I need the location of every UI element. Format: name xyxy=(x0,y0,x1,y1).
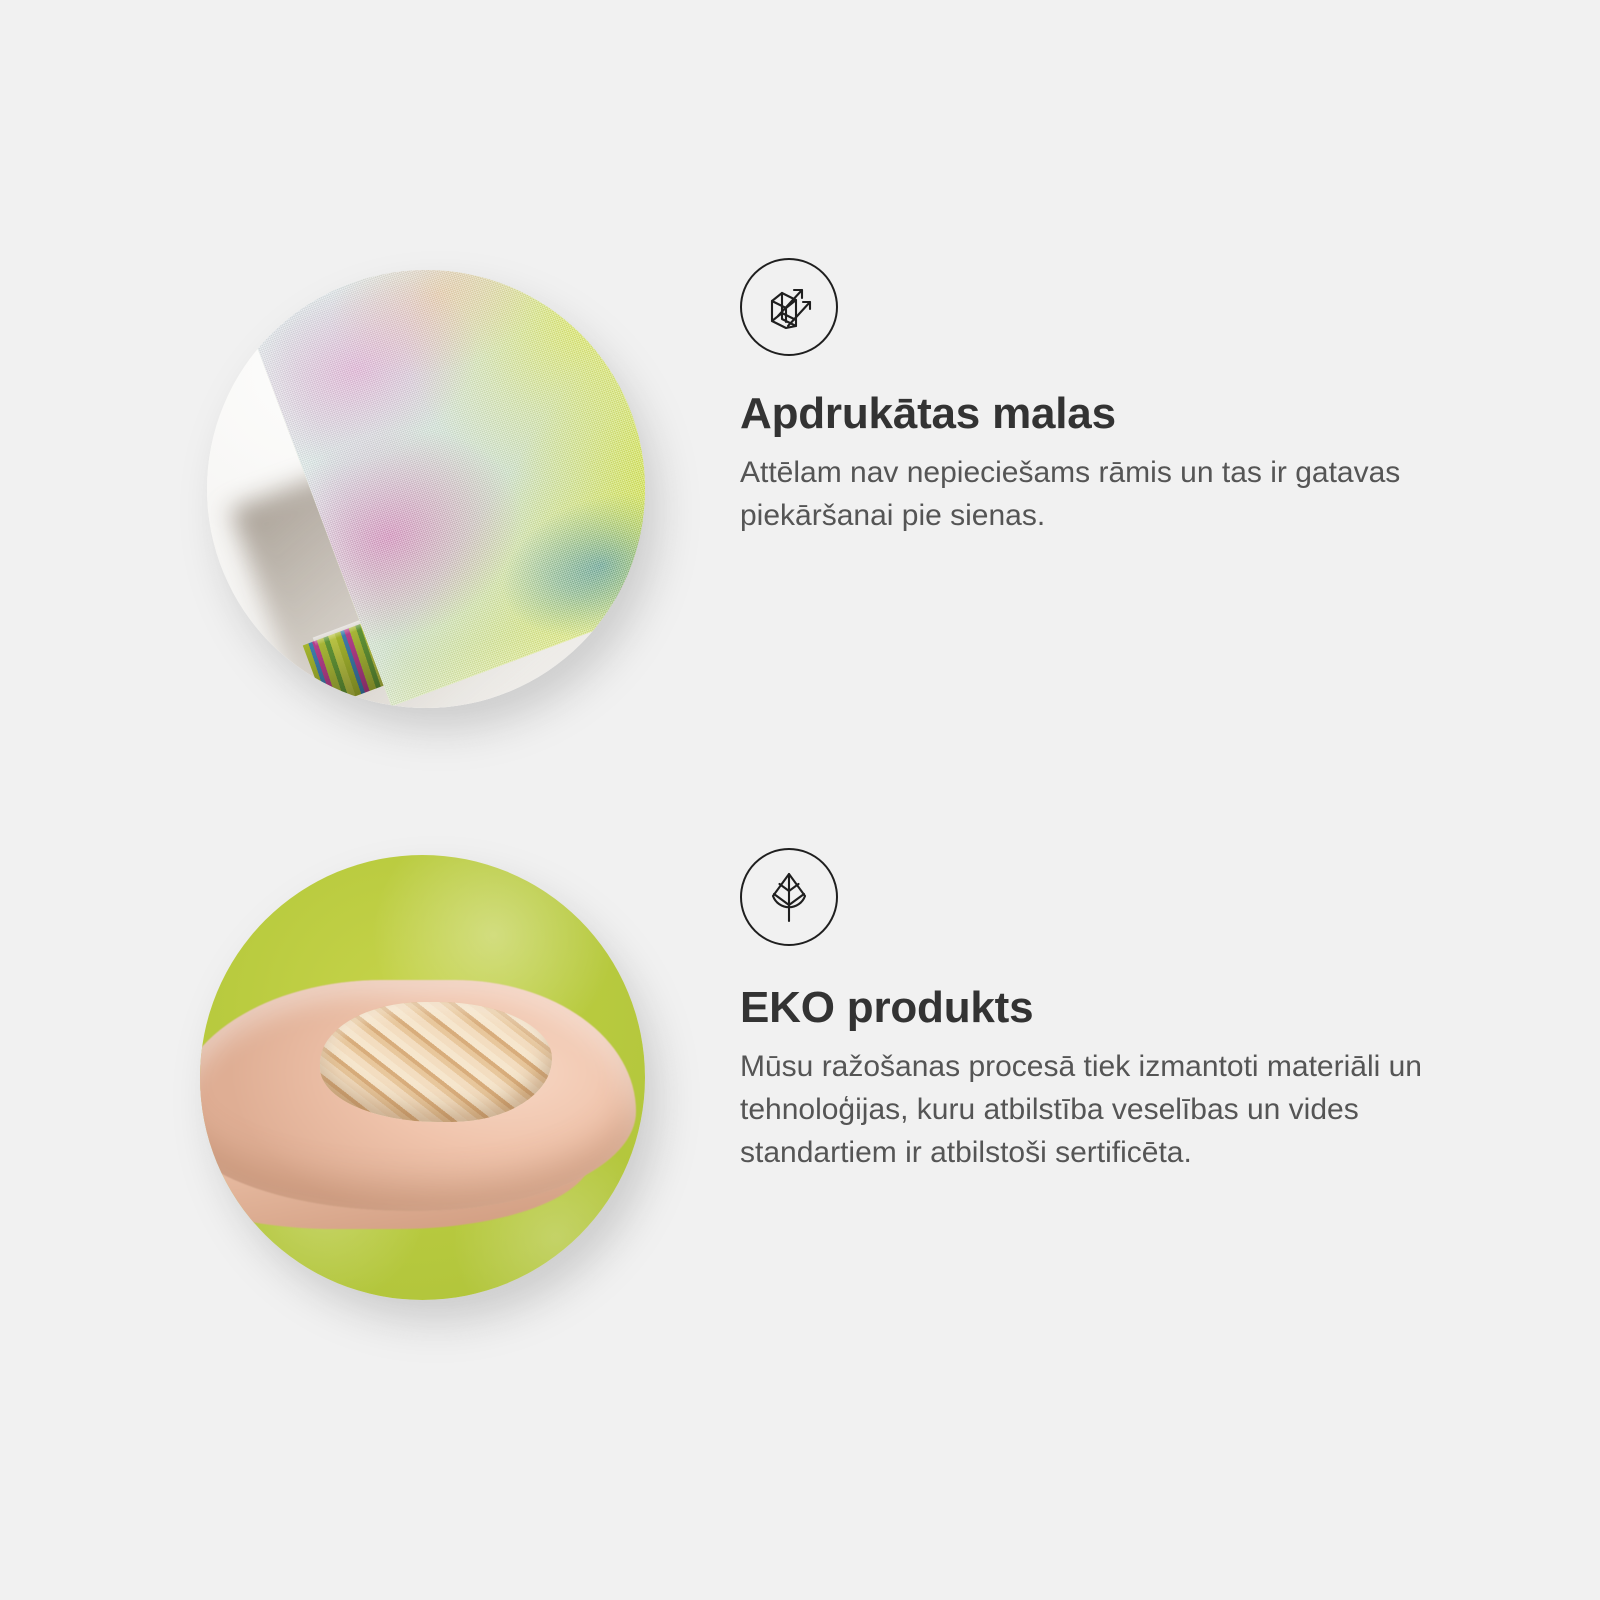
wood-chips-in-hands-photo xyxy=(200,855,645,1300)
feature-title: EKO produkts xyxy=(740,984,1600,1032)
feature-description: Attēlam nav nepieciešams rāmis un tas ir… xyxy=(740,452,1470,537)
feature-title: Apdrukātas malas xyxy=(740,390,1600,438)
printed-canvas-edges-icon xyxy=(740,258,838,356)
feature-eco-product: EKO produkts Mūsu ražošanas procesā tiek… xyxy=(0,840,1600,1174)
wood-chips-pile xyxy=(320,1002,551,1122)
feature-printed-edges: Apdrukātas malas Attēlam nav nepieciešam… xyxy=(0,250,1600,538)
canvas-corner-photo xyxy=(207,270,645,708)
feature-highlights-page: Apdrukātas malas Attēlam nav nepieciešam… xyxy=(0,0,1600,1600)
feature-description: Mūsu ražošanas procesā tiek izmantoti ma… xyxy=(740,1046,1470,1174)
eco-product-text-column: EKO produkts Mūsu ražošanas procesā tiek… xyxy=(740,840,1600,1174)
printed-edges-text-column: Apdrukātas malas Attēlam nav nepieciešam… xyxy=(740,250,1600,538)
leaf-icon xyxy=(740,848,838,946)
